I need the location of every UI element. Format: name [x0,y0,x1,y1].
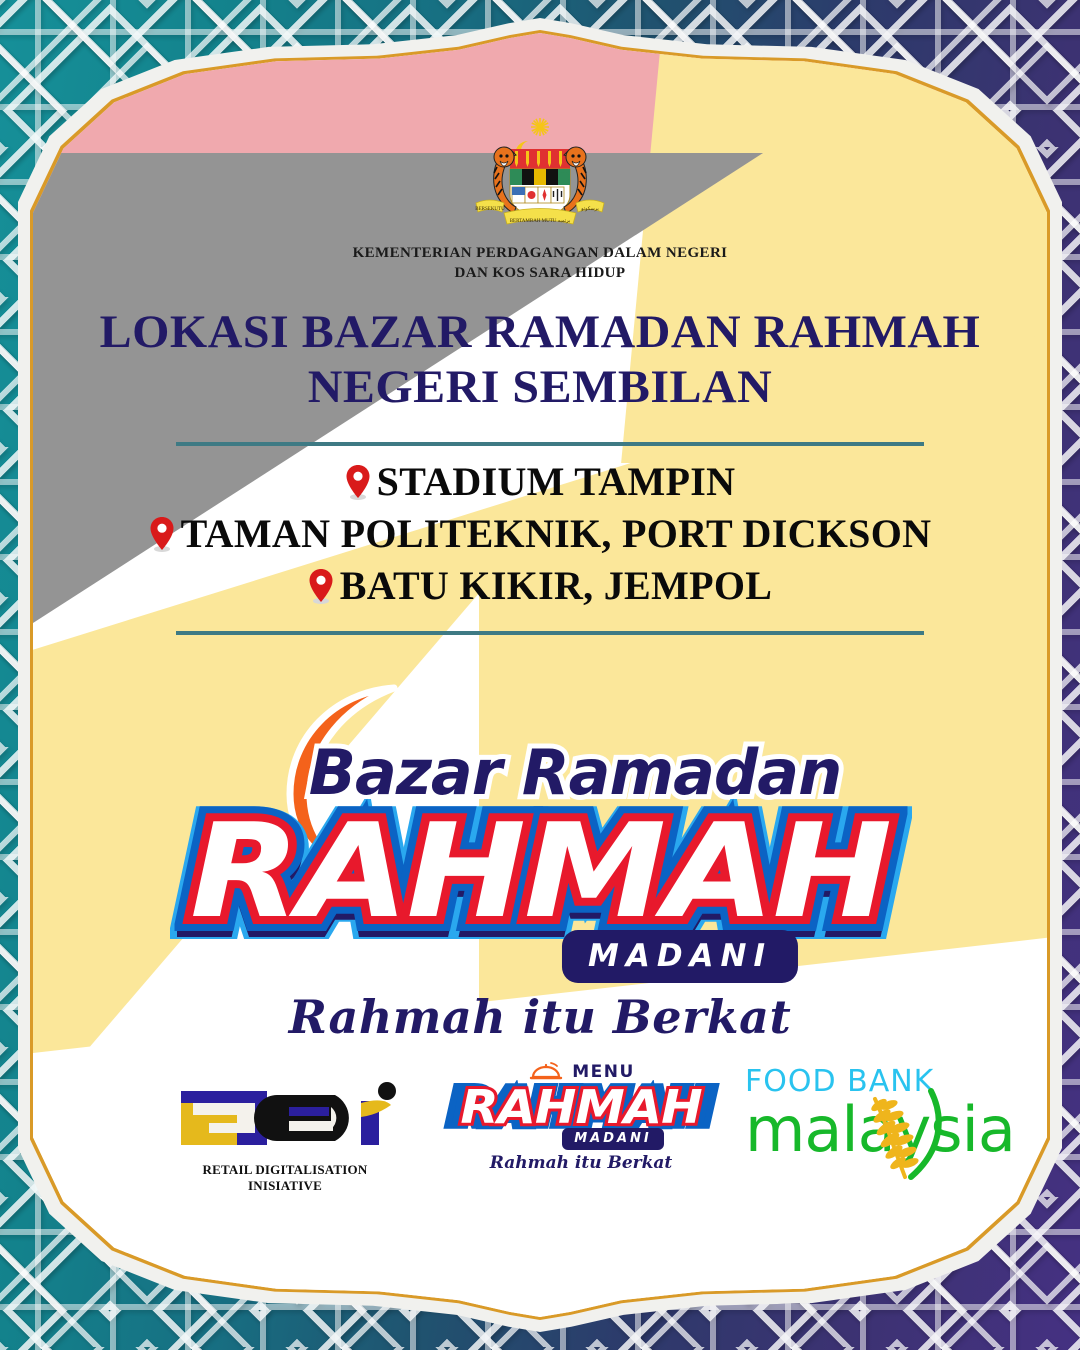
map-pin-icon [149,516,175,552]
menu-rahmah-madani-badge: MADANI [562,1128,664,1150]
redi-logo: RETAIL DIGITALISATION INISIATIVE [165,1081,405,1194]
menu-rahmah-wordmark: RAHMAH RAHMAH [451,1084,710,1130]
poster-content: BERSEKUTU برسكوتو BERTAMBAH MUTU برتمبه … [33,33,1047,1317]
title-line-1: LOKASI BAZAR RAMADAN RAHMAH [33,305,1047,360]
madani-badge: MADANI [562,930,798,983]
partner-logos: RETAIL DIGITALISATION INISIATIVE MENU [33,1053,1047,1203]
jata-negara-crest: BERSEKUTU برسكوتو BERTAMBAH MUTU برتمبه [450,115,630,235]
ministry-name: KEMENTERIAN PERDAGANGAN DALAM NEGERI DAN… [33,243,1047,284]
menu-rahmah-logo: MENU RAHMAH RAHMAH MADANI Rahmah itu Ber… [461,1061,701,1173]
food-bank-malaysia-logo: FOOD BANK malaysia [745,1067,995,1171]
ministry-line-1: KEMENTERIAN PERDAGANGAN DALAM NEGERI [33,243,1047,263]
poster-card: BERSEKUTU برسكوتو BERTAMBAH MUTU برتمبه … [33,33,1047,1317]
list-item: TAMAN POLITEKNIK, PORT DICKSON [33,510,1047,557]
divider-bottom [176,631,924,635]
location-name: BATU KIKIR, JEMPOL [340,562,772,609]
brand-word-rahmah: RAHMAH [33,806,1047,936]
page-title: LOKASI BAZAR RAMADAN RAHMAH NEGERI SEMBI… [33,305,1047,414]
svg-text:برسكوتو: برسكوتو [580,206,599,212]
list-item: BATU KIKIR, JEMPOL [33,562,1047,609]
menu-rahmah-wordmark-front: RAHMAH [460,1080,701,1134]
map-pin-icon [308,568,334,604]
food-bank-wordmark-row: malaysia [745,1099,995,1171]
bazar-ramadan-rahmah-logo: Bazar Ramadan RAHMAH RAHMAH RAHMAH RAHMA… [33,658,1047,1048]
location-name: STADIUM TAMPIN [377,458,736,505]
location-list: STADIUM TAMPIN TAMAN POLITEKNIK, PORT DI… [33,458,1047,614]
menu-rahmah-tagline: Rahmah itu Berkat [461,1153,701,1173]
svg-text:BERTAMBAH MUTU برتمبه: BERTAMBAH MUTU برتمبه [510,219,571,224]
divider-top [176,442,924,446]
svg-text:BERSEKUTU: BERSEKUTU [475,207,505,212]
brand-tagline: Rahmah itu Berkat [33,990,1047,1044]
title-line-2: NEGERI SEMBILAN [33,360,1047,415]
map-pin-icon [345,464,371,500]
ministry-line-2: DAN KOS SARA HIDUP [33,263,1047,283]
wheat-stalk-icon [853,1085,953,1181]
location-name: TAMAN POLITEKNIK, PORT DICKSON [181,510,932,557]
menu-label: MENU [572,1062,635,1082]
poster-root: BERSEKUTU برسكوتو BERTAMBAH MUTU برتمبه … [0,0,1080,1350]
redi-wordmark-icon [165,1081,405,1155]
redi-caption: RETAIL DIGITALISATION INISIATIVE [165,1162,405,1194]
list-item: STADIUM TAMPIN [33,458,1047,505]
